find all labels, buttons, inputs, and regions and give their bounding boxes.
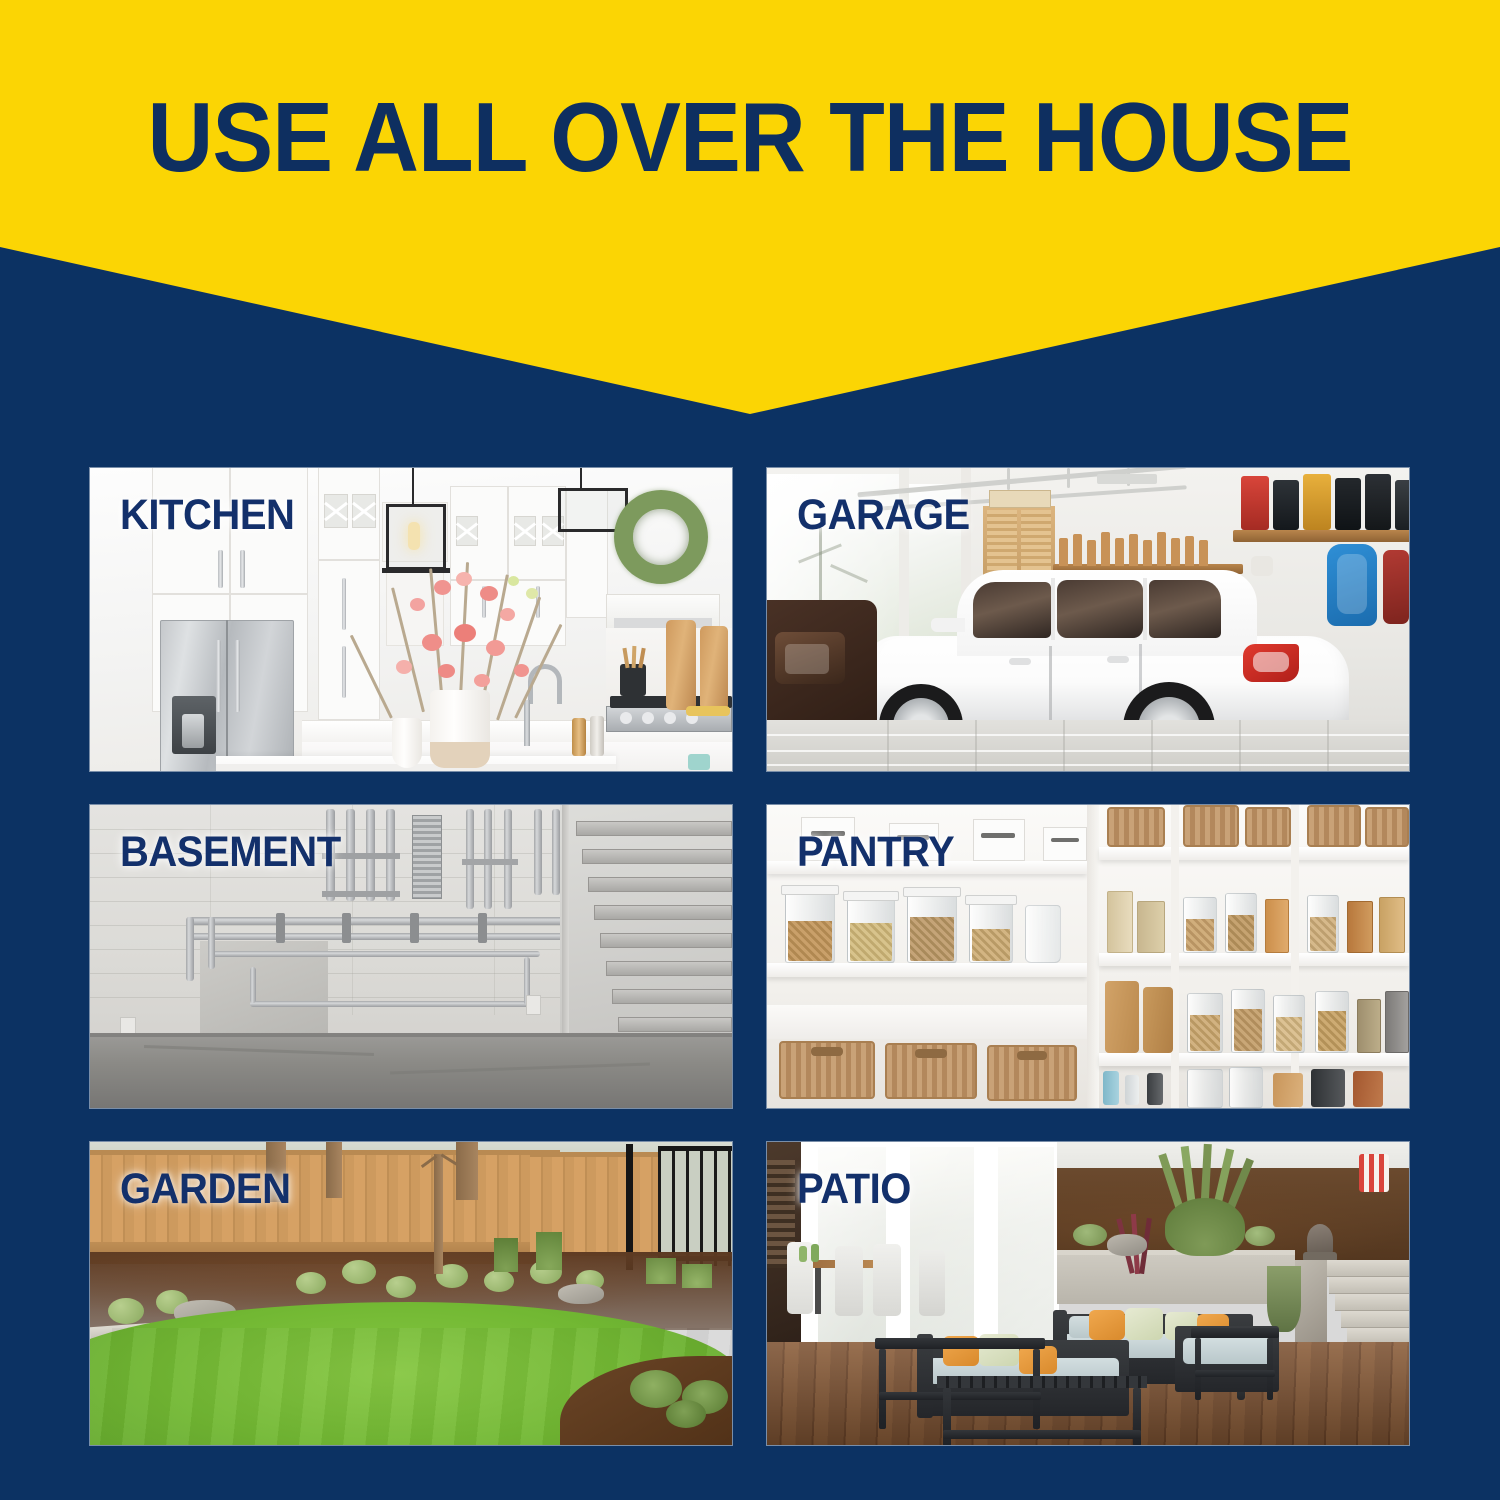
header-banner <box>0 0 1500 420</box>
card-label-patio: PATIO <box>797 1168 911 1211</box>
card-label-pantry: PANTRY <box>797 831 954 874</box>
room-card-grid: KITCHEN <box>90 468 1409 1445</box>
room-card-garden[interactable]: GARDEN <box>90 1142 732 1445</box>
card-label-kitchen: KITCHEN <box>120 494 294 537</box>
room-card-basement[interactable]: BASEMENT <box>90 805 732 1108</box>
room-card-pantry[interactable]: PANTRY <box>767 805 1409 1108</box>
card-label-garage: GARAGE <box>797 494 970 537</box>
room-card-patio[interactable]: PATIO <box>767 1142 1409 1445</box>
room-card-garage[interactable]: GARAGE <box>767 468 1409 771</box>
page-title: USE ALL OVER THE HOUSE <box>53 88 1448 186</box>
room-card-kitchen[interactable]: KITCHEN <box>90 468 732 771</box>
card-label-garden: GARDEN <box>120 1168 291 1211</box>
card-label-basement: BASEMENT <box>120 831 341 874</box>
